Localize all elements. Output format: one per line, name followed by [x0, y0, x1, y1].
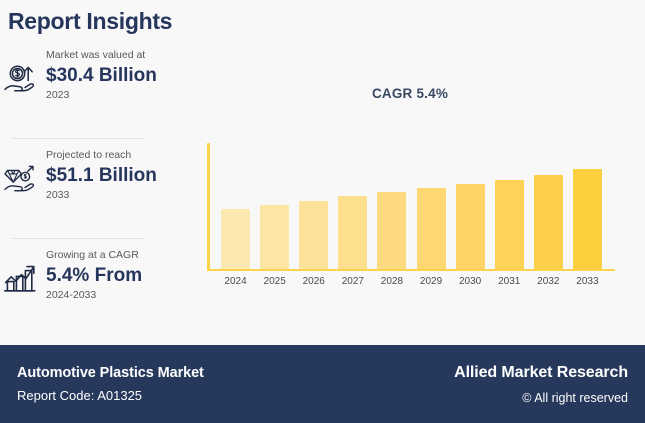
- stat-sub: 2024-2033: [46, 288, 142, 303]
- chart-bar: [456, 184, 485, 269]
- chart-x-label: 2026: [294, 276, 333, 287]
- stat-value: 5.4% From: [46, 265, 142, 287]
- chart-bar: [417, 188, 446, 269]
- chart-bar: [534, 175, 563, 269]
- stat-text: Market was valued at $30.4 Billion 2023: [46, 46, 157, 103]
- chart-bar-slot: [255, 143, 294, 269]
- chart-x-label: 2024: [216, 276, 255, 287]
- footer-brand-name: Allied Market Research: [454, 361, 628, 384]
- chart-x-label: 2025: [255, 276, 294, 287]
- report-insights-infographic: Report Insights Market was valued at: [0, 0, 645, 423]
- chart-x-label: 2032: [529, 276, 568, 287]
- chart-bar-slot: [529, 143, 568, 269]
- chart-bar-slot: [372, 143, 411, 269]
- market-forecast-chart: CAGR 5.4% 202420252026202720282029203020…: [185, 38, 635, 338]
- chart-x-axis: [207, 269, 615, 272]
- chart-bar-slot: [568, 143, 607, 269]
- chart-title: CAGR 5.4%: [185, 86, 635, 101]
- stat-value: $51.1 Billion: [46, 165, 157, 187]
- stat-caption: Projected to reach: [46, 148, 156, 163]
- hand-diamond-growth-icon: [0, 146, 46, 196]
- chart-bar: [221, 209, 250, 269]
- chart-bar-slot: [490, 143, 529, 269]
- chart-bar: [260, 205, 289, 269]
- chart-x-label: 2030: [451, 276, 490, 287]
- bar-chart-arrow-icon: [0, 246, 46, 296]
- stat-sub: 2033: [46, 188, 157, 203]
- stat-caption: Market was valued at: [46, 48, 156, 63]
- stat-text: Projected to reach $51.1 Billion 2033: [46, 146, 157, 203]
- chart-bar-slot: [216, 143, 255, 269]
- chart-x-label: 2027: [333, 276, 372, 287]
- chart-bars: [216, 143, 607, 269]
- chart-bar-slot: [451, 143, 490, 269]
- chart-bar: [573, 169, 602, 269]
- stat-sub: 2023: [46, 88, 157, 103]
- chart-bar-slot: [333, 143, 372, 269]
- footer-brand-info: Allied Market Research © All right reser…: [454, 361, 628, 407]
- chart-bar-slot: [294, 143, 333, 269]
- chart-x-label: 2033: [568, 276, 607, 287]
- hand-coin-growth-icon: [0, 46, 46, 96]
- chart-plot-area: [207, 143, 607, 271]
- chart-x-label: 2029: [411, 276, 450, 287]
- chart-x-label: 2031: [490, 276, 529, 287]
- footer-copyright: © All right reserved: [454, 389, 628, 407]
- stat-value: $30.4 Billion: [46, 65, 157, 87]
- page-title: Report Insights: [8, 8, 172, 35]
- stat-block-projected-value: Projected to reach $51.1 Billion 2033: [0, 138, 180, 238]
- footer-bar: Automotive Plastics Market Report Code: …: [0, 345, 645, 423]
- chart-bar: [299, 201, 328, 269]
- chart-bar: [495, 180, 524, 269]
- stat-text: Growing at a CAGR 5.4% From 2024-2033: [46, 246, 142, 303]
- chart-x-label: 2028: [372, 276, 411, 287]
- chart-bar: [338, 196, 367, 269]
- stat-block-market-value: Market was valued at $30.4 Billion 2023: [0, 38, 180, 138]
- stat-caption: Growing at a CAGR: [46, 248, 142, 263]
- chart-bar-slot: [411, 143, 450, 269]
- stats-column: Market was valued at $30.4 Billion 2023: [0, 38, 180, 338]
- stat-block-cagr: Growing at a CAGR 5.4% From 2024-2033: [0, 238, 180, 338]
- chart-y-axis: [207, 143, 210, 271]
- footer-report-code: Report Code: A01325: [17, 387, 204, 406]
- chart-bar: [377, 192, 406, 269]
- infographic-body: Report Insights Market was valued at: [0, 0, 645, 345]
- chart-x-axis-labels: 2024202520262027202820292030203120322033: [216, 276, 607, 287]
- footer-report-info: Automotive Plastics Market Report Code: …: [17, 363, 204, 406]
- footer-report-title: Automotive Plastics Market: [17, 363, 204, 384]
